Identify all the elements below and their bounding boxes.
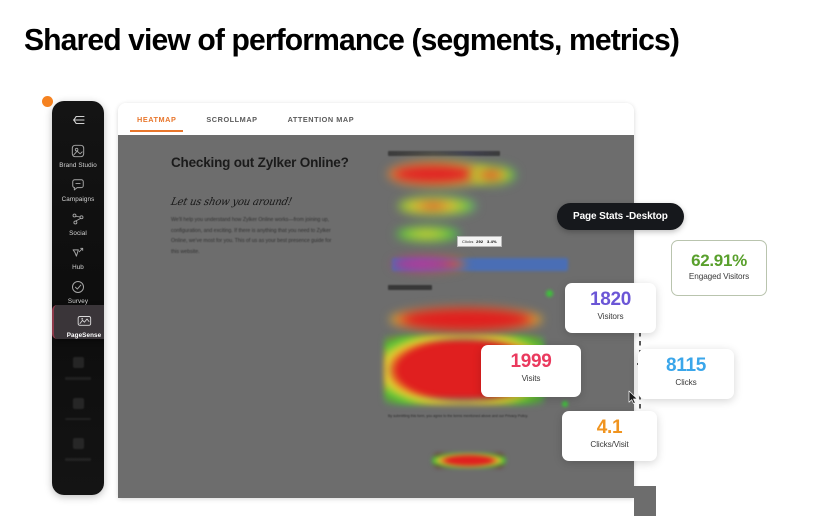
metric-card-engaged-visitors[interactable]: 62.91% Engaged Visitors	[671, 240, 767, 296]
heatmap-tooltip-value: 292	[476, 239, 483, 244]
heatmap-tooltip-label: Clicks	[462, 239, 474, 244]
heat-blob	[398, 196, 476, 216]
sidebar-item-label: Hub	[52, 264, 104, 271]
placeholder-label	[65, 418, 91, 421]
sidebar-item-social[interactable]: Social	[52, 203, 104, 237]
sidebar-item-campaigns[interactable]: Campaigns	[52, 169, 104, 203]
metric-card-visits[interactable]: 1999 Visits	[481, 345, 581, 397]
metric-label: Visitors	[565, 312, 656, 321]
brand-studio-icon	[52, 142, 104, 159]
hub-icon	[52, 244, 104, 261]
sidebar-item-label: Survey	[52, 298, 104, 305]
tab-scrollmap[interactable]: SCROLLMAP	[204, 106, 259, 132]
heat-dot	[562, 401, 568, 407]
heatmap-line-label	[388, 151, 500, 156]
survey-icon	[52, 278, 104, 295]
metric-label: Visits	[481, 374, 581, 383]
placeholder-label	[65, 377, 91, 380]
main-panel: HEATMAP SCROLLMAP ATTENTION MAP Checking…	[118, 103, 634, 498]
cta-button-heat[interactable]	[432, 453, 506, 468]
sidebar-item-label: PageSense	[54, 332, 104, 339]
heat-dot	[546, 290, 553, 297]
metric-value: 62.91%	[672, 252, 766, 270]
sidebar-item-label: Brand Studio	[52, 162, 104, 169]
sidebar-item-hidden-1[interactable]	[52, 348, 104, 380]
placeholder-icon	[73, 357, 84, 368]
captured-page-heading: Checking out Zylker Online?	[171, 155, 351, 171]
metric-label: Engaged Visitors	[672, 272, 766, 281]
slide-root: Shared view of performance (segments, me…	[0, 0, 818, 516]
sidebar-item-hub[interactable]: Hub	[52, 237, 104, 271]
placeholder-icon	[73, 398, 84, 409]
placeholder-icon	[73, 438, 84, 449]
metric-value: 4.1	[562, 418, 657, 438]
hamburger-collapse-icon[interactable]	[52, 115, 104, 125]
sidebar-item-label: Social	[52, 230, 104, 237]
metric-label: Clicks	[638, 378, 734, 387]
heat-blob	[390, 307, 542, 332]
canvas-overflow	[634, 486, 656, 516]
page-title: Shared view of performance (segments, me…	[24, 22, 679, 58]
mouse-pointer-icon	[628, 390, 639, 410]
campaigns-icon	[52, 176, 104, 193]
sidebar-item-pagesense[interactable]: PageSense	[52, 305, 104, 339]
tab-heatmap[interactable]: HEATMAP	[135, 106, 178, 132]
tab-attention-map[interactable]: ATTENTION MAP	[286, 106, 357, 132]
captured-page-footer-note: By submitting this form, you agree to th…	[388, 413, 552, 421]
sidebar-item-survey[interactable]: Survey	[52, 271, 104, 305]
heat-blob	[470, 165, 516, 185]
social-icon	[52, 210, 104, 227]
metric-value: 1820	[565, 290, 656, 310]
product-screenshot: Brand Studio Campaigns	[24, 92, 794, 504]
sidebar-item-hidden-3[interactable]	[52, 429, 104, 461]
app-sidebar[interactable]: Brand Studio Campaigns	[52, 101, 104, 495]
metric-card-clicks-per-visit[interactable]: 4.1 Clicks/Visit	[562, 411, 657, 461]
captured-page-body: We'll help you understand how Zylker Onl…	[171, 215, 334, 258]
placeholder-label	[65, 458, 91, 461]
sidebar-item-hidden-2[interactable]	[52, 389, 104, 421]
heatmap-section-label	[388, 285, 432, 290]
pagesense-icon	[54, 312, 104, 329]
metric-card-visitors[interactable]: 1820 Visitors	[565, 283, 656, 333]
metric-value: 1999	[481, 352, 581, 372]
heat-blob	[396, 226, 460, 242]
metric-label: Clicks/Visit	[562, 440, 657, 449]
heatmap-canvas[interactable]: Checking out Zylker Online? Let us show …	[118, 135, 634, 498]
sidebar-item-brand-studio[interactable]: Brand Studio	[52, 135, 104, 169]
heatmap-overlay: Clicks 292 3.4% By submitting this form,…	[374, 139, 574, 494]
heatmap-tooltip-percent: 3.4%	[487, 239, 497, 244]
metric-card-clicks[interactable]: 8115 Clicks	[638, 349, 734, 399]
heatmap-tooltip: Clicks 292 3.4%	[457, 236, 502, 247]
captured-page-script-line: Let us show you around!	[170, 197, 293, 209]
heat-blob	[392, 256, 466, 272]
sidebar-item-label: Campaigns	[52, 196, 104, 203]
tab-bar: HEATMAP SCROLLMAP ATTENTION MAP	[118, 103, 634, 135]
accent-dot-icon	[42, 96, 53, 107]
metric-value: 8115	[638, 356, 734, 376]
page-stats-pill: Page Stats -Desktop	[557, 203, 684, 230]
